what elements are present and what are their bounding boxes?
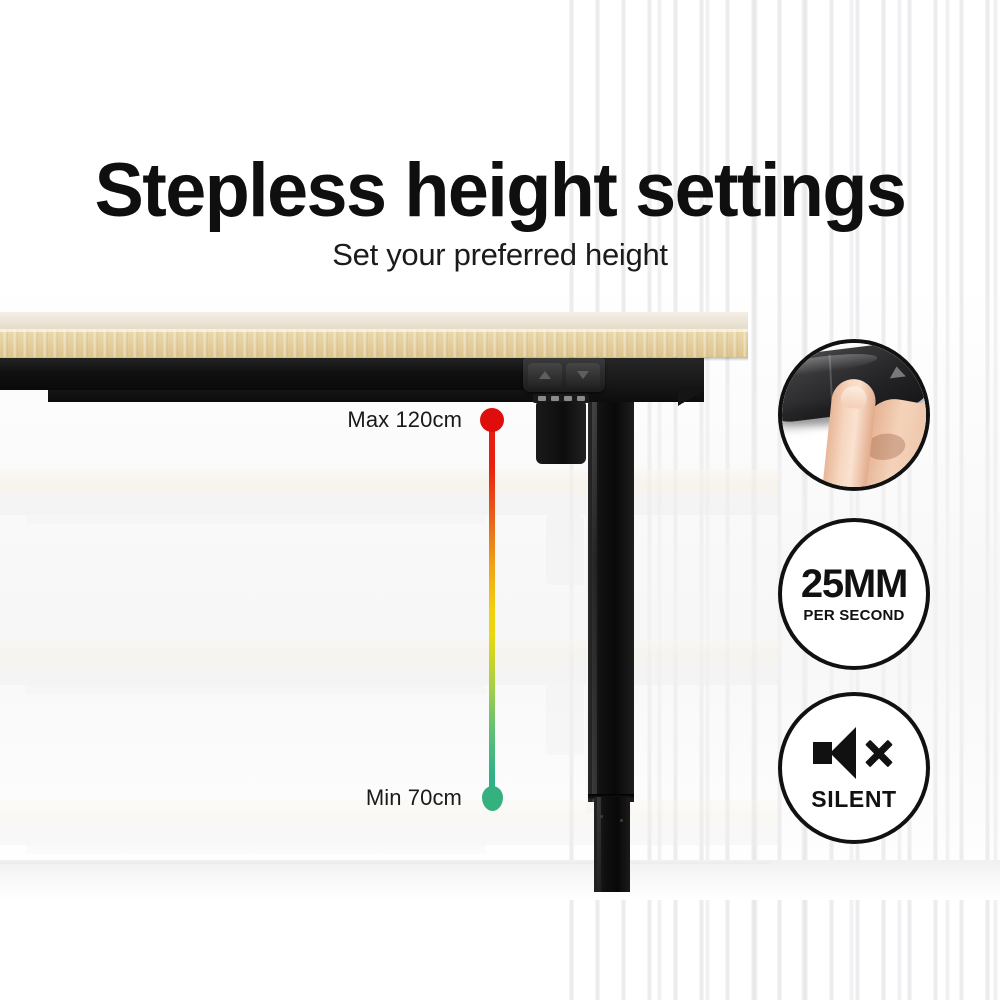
leg-highlight [592,402,597,802]
speaker-cone [830,727,856,779]
ghost-desktop-edge [0,654,780,663]
connector-pin [551,396,559,401]
floor [0,860,1000,900]
min-height-label: Min 70cm [200,785,462,811]
chevron-down-icon [577,371,589,379]
connector-pin [564,396,572,401]
leg-screw [620,819,623,822]
ghost-frame-notch [26,845,486,854]
speed-value: 25MM [801,563,907,605]
page-subtitle: Set your preferred height [0,236,1000,274]
desktop-edge-highlight [0,329,748,332]
connector-pin [538,396,546,401]
height-down-button[interactable] [566,363,600,387]
height-control-pad[interactable] [523,358,605,392]
max-height-label: Max 120cm [200,407,462,433]
ghost-desktop-edge [0,484,780,493]
ghost-motor [546,515,584,585]
ghost-frame [0,663,780,685]
ghost-frame-notch [26,685,486,694]
ghost-desktop-edge [0,814,780,823]
chevron-up-icon [539,371,551,379]
height-up-button[interactable] [528,363,562,387]
badge-silent: SILENT [778,692,930,844]
speaker-mute-icon [811,725,897,781]
mute-cross-icon [863,737,895,769]
ghost-frame-notch [26,515,486,524]
height-range-gradient-bar [489,420,495,798]
pad-arrow-icon [889,366,906,379]
silent-label: SILENT [811,787,896,812]
ghost-desktop-top [0,640,780,654]
fingernail [840,385,868,410]
desktop-surface [0,312,748,329]
ghost-desktop-top [0,470,780,484]
ghost-frame [0,493,780,515]
product-feature-image: Stepless height settings Set your prefer… [0,0,1000,1000]
speed-unit: PER SECOND [803,607,904,625]
max-height-marker-dot [480,408,504,432]
desktop-edge [0,329,748,357]
floor-line [0,862,770,864]
badge-speed: 25MM PER SECOND [778,518,930,670]
desk-leg-lower [594,797,630,892]
lift-motor-housing [536,402,586,464]
leg-screw [600,815,603,818]
badge-press-control [778,339,930,491]
leg-highlight [597,797,601,892]
desk-leg-upper [588,402,634,802]
ghost-frame [0,823,780,845]
frame-bracket-taper [678,390,704,406]
ghost-motor [546,685,584,755]
page-title: Stepless height settings [15,150,985,232]
connector-pin [577,396,585,401]
press-control-photo [782,343,926,487]
